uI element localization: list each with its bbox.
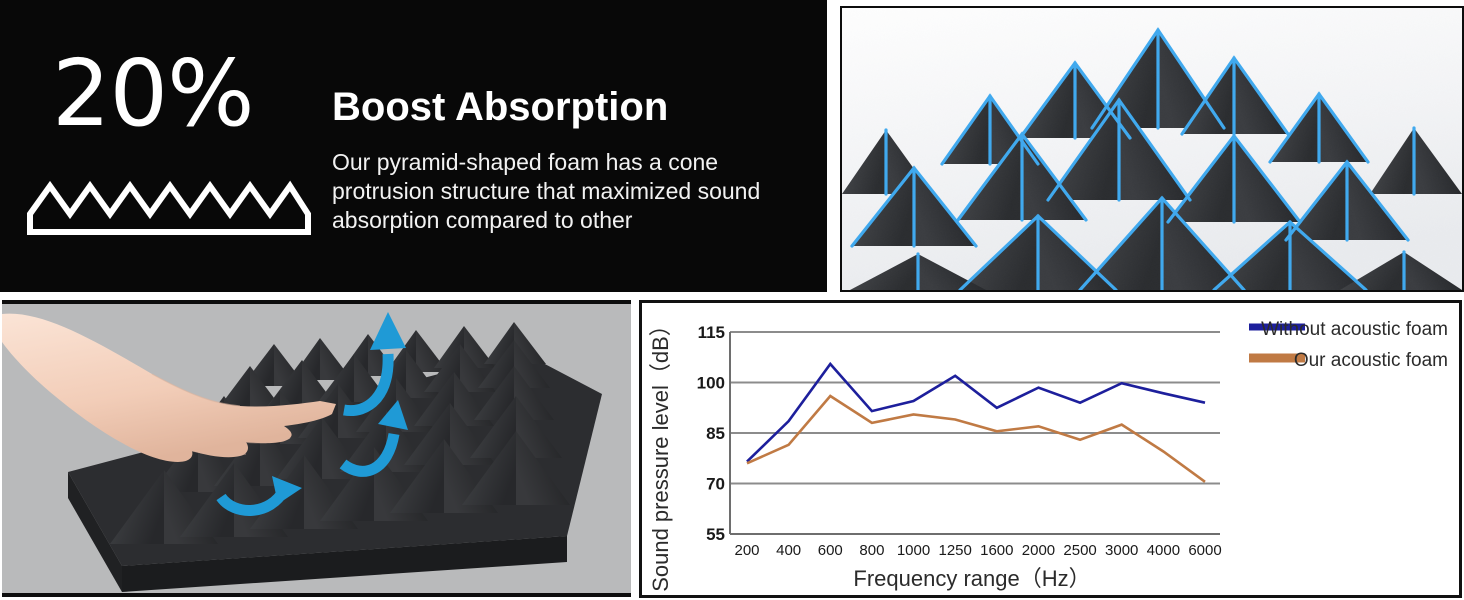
x-tick-label: 2500 [1063,542,1096,559]
hand-on-foam-graphic [2,304,631,593]
y-tick-label: 115 [698,323,725,342]
x-tick-label: 1000 [897,542,930,559]
hand-demo-image [2,300,631,597]
promo-content: 20% Boost Absorption Our pyramid-shaped … [0,0,827,292]
promo-percent-value: 20% [52,48,253,140]
x-tick-label: 4000 [1147,542,1180,559]
foam-pyramids-graphic [842,8,1462,290]
y-tick-label: 85 [706,424,725,443]
x-tick-label: 800 [859,542,884,559]
y-tick-label: 70 [706,475,725,494]
x-tick-label: 3000 [1105,542,1138,559]
x-tick-label: 1600 [980,542,1013,559]
x-tick-label: 1250 [938,542,971,559]
y-tick-label: 55 [706,525,725,544]
y-tick-label: 100 [697,374,725,393]
legend-label: Without acoustic foam [1261,319,1448,340]
chart-y-axis-label: Sound pressure level（dB） [648,314,673,592]
sound-pressure-level-line-chart: Sound pressure level（dB） 557085100115 20… [642,303,1459,595]
product-feature-collage: 20% Boost Absorption Our pyramid-shaped … [0,0,1464,600]
foam-closeup-image [840,6,1464,292]
x-tick-label: 2000 [1022,542,1055,559]
sound-pressure-chart-panel: Sound pressure level（dB） 557085100115 20… [639,300,1462,598]
promo-panel: 20% Boost Absorption Our pyramid-shaped … [0,0,827,292]
x-tick-label: 400 [776,542,801,559]
promo-title: Boost Absorption [332,84,668,130]
zigzag-pyramid-icon [24,176,314,238]
x-tick-label: 6000 [1188,542,1221,559]
x-tick-label: 200 [734,542,759,559]
chart-x-axis-label: Frequency range（Hz） [853,566,1090,591]
promo-description: Our pyramid-shaped foam has a cone protr… [332,148,812,235]
x-tick-label: 600 [818,542,843,559]
legend-label: Our acoustic foam [1294,350,1448,371]
